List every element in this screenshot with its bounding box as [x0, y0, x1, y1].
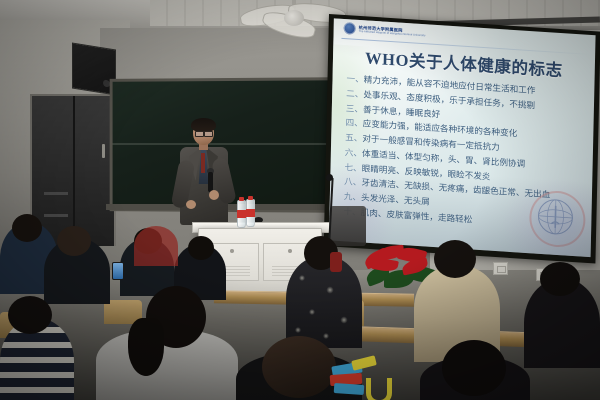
- folded-umbrella: [330, 352, 420, 400]
- audience-head: [434, 240, 476, 278]
- presenter-hand-right: [209, 190, 219, 200]
- audience-head: [188, 236, 214, 260]
- scarf: [330, 252, 342, 272]
- umbrella-handle[interactable]: [366, 378, 392, 400]
- bottle-cap: [239, 197, 244, 201]
- microphone-body: [208, 172, 213, 192]
- door-panel-lower: [44, 214, 68, 217]
- fan-hub: [284, 10, 304, 26]
- audience-head: [12, 214, 42, 242]
- water-bottle[interactable]: [237, 200, 246, 228]
- audience-head: [442, 340, 506, 396]
- audience-head: [8, 296, 52, 334]
- presenter-hand-left: [186, 200, 196, 209]
- water-bottle[interactable]: [246, 199, 255, 227]
- slide-bullet-number: 六、: [345, 147, 362, 158]
- umbrella-panel: [351, 355, 377, 371]
- presenter: [176, 120, 232, 238]
- glasses-icon: [204, 131, 213, 137]
- door[interactable]: [30, 94, 116, 246]
- glasses-icon: [195, 131, 204, 137]
- slide-bullet-number: 一、: [346, 73, 363, 84]
- umbrella-panel: [334, 383, 365, 395]
- audience-member: [286, 256, 362, 348]
- door-panel-upper: [44, 192, 68, 195]
- slide-bullet-number: 五、: [345, 132, 362, 143]
- chair[interactable]: [330, 206, 366, 246]
- drawer-lock-icon: [230, 249, 234, 253]
- lecture-hall-photo: 杭州师范大学附属医院 The Affiliated Hospital of Ha…: [0, 0, 600, 400]
- bottle-label: [246, 209, 255, 217]
- slide-bullet-number: 三、: [346, 103, 363, 114]
- audience-head: [262, 336, 336, 398]
- drawer-lock-icon: [288, 249, 292, 253]
- audience-member: [134, 226, 178, 266]
- bottle-label: [237, 210, 246, 218]
- hospital-logo-icon: [344, 22, 356, 35]
- door-split: [73, 96, 75, 246]
- audience-head: [540, 262, 580, 296]
- projection-screen: 杭州师范大学附属医院 The Affiliated Hospital of Ha…: [329, 18, 596, 257]
- slide-bullet-number: 二、: [346, 88, 363, 99]
- door-handle[interactable]: [102, 144, 105, 158]
- presenter-hair: [191, 118, 216, 132]
- mobile-phone[interactable]: [112, 262, 124, 280]
- presenter-tie: [201, 153, 205, 173]
- wall-outlet[interactable]: [493, 262, 508, 275]
- slide-bullet-number: 四、: [345, 118, 362, 129]
- audience-head: [57, 226, 91, 256]
- bottle-cap: [248, 196, 253, 200]
- audience-hair: [128, 318, 164, 376]
- microphone-head-icon: [326, 174, 333, 181]
